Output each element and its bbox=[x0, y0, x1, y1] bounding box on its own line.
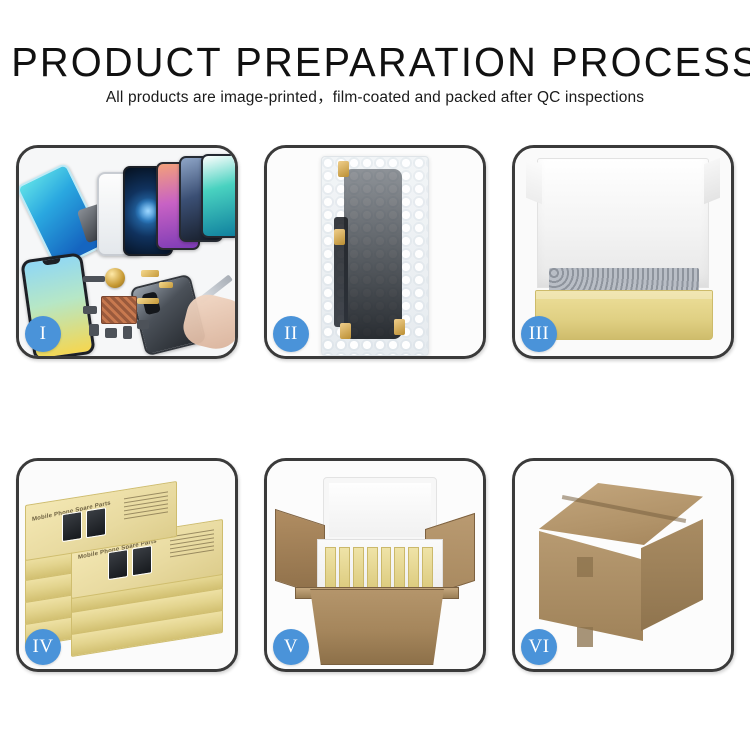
panel-6-illustration: VI bbox=[515, 461, 731, 669]
adhesive-film-icon bbox=[16, 162, 106, 269]
process-step-grid: I II III bbox=[0, 0, 750, 750]
panel-3-illustration: III bbox=[515, 148, 731, 356]
chip-icon bbox=[83, 306, 97, 314]
process-step-6: VI bbox=[512, 458, 734, 672]
panel-2-illustration: II bbox=[267, 148, 483, 356]
panel-4-illustration: Mobile Phone Spare Parts Mobile Phone Sp… bbox=[19, 461, 235, 669]
flex-cable-icon bbox=[137, 298, 159, 304]
bubble-wrap-bag-icon bbox=[321, 156, 429, 356]
panel-1-illustration: I bbox=[19, 148, 235, 356]
step-badge-1: I bbox=[25, 316, 61, 352]
process-step-2: II bbox=[264, 145, 486, 359]
carton-front-face-icon bbox=[539, 531, 643, 641]
chip-icon bbox=[89, 324, 99, 336]
box-spec-lines bbox=[124, 491, 168, 522]
process-step-5: V bbox=[264, 458, 486, 672]
step-badge-4: IV bbox=[25, 629, 61, 665]
camera-module-icon bbox=[105, 268, 125, 288]
gold-tab-icon bbox=[340, 323, 351, 339]
box-artwork-screen bbox=[108, 549, 128, 580]
box-artwork-screen bbox=[86, 507, 106, 538]
chip-icon bbox=[137, 320, 149, 329]
box-artwork-screen bbox=[62, 511, 82, 542]
step-badge-6: VI bbox=[521, 629, 557, 665]
chip-icon bbox=[123, 326, 132, 339]
gold-tab-icon bbox=[338, 161, 349, 177]
circuit-board-icon bbox=[101, 296, 137, 324]
panel-5-illustration: V bbox=[267, 461, 483, 669]
carton-tape-icon bbox=[577, 627, 593, 647]
step-badge-2: II bbox=[273, 316, 309, 352]
connector-icon bbox=[141, 270, 159, 277]
process-step-1: I bbox=[16, 145, 238, 359]
step-badge-5: V bbox=[273, 629, 309, 665]
process-step-3: III bbox=[512, 145, 734, 359]
wrapped-part-icon bbox=[344, 169, 402, 339]
box-stack-icon: Mobile Phone Spare Parts Mobile Phone Sp… bbox=[25, 479, 225, 655]
connector-icon bbox=[159, 282, 173, 288]
yellow-box-base-icon bbox=[535, 290, 713, 340]
carton-tape-icon bbox=[577, 557, 593, 577]
step-badge-3: III bbox=[521, 316, 557, 352]
gold-tab-icon bbox=[394, 319, 405, 335]
yellow-packs-icon bbox=[325, 545, 433, 589]
phone-teal-icon bbox=[201, 154, 238, 238]
chip-icon bbox=[105, 328, 117, 338]
chip-icon bbox=[83, 276, 105, 282]
process-step-4: Mobile Phone Spare Parts Mobile Phone Sp… bbox=[16, 458, 238, 672]
styrofoam-lid-icon bbox=[323, 477, 437, 543]
carton-body-icon bbox=[301, 589, 453, 665]
gold-tab-icon bbox=[334, 229, 345, 245]
box-artwork-screen bbox=[132, 545, 152, 576]
